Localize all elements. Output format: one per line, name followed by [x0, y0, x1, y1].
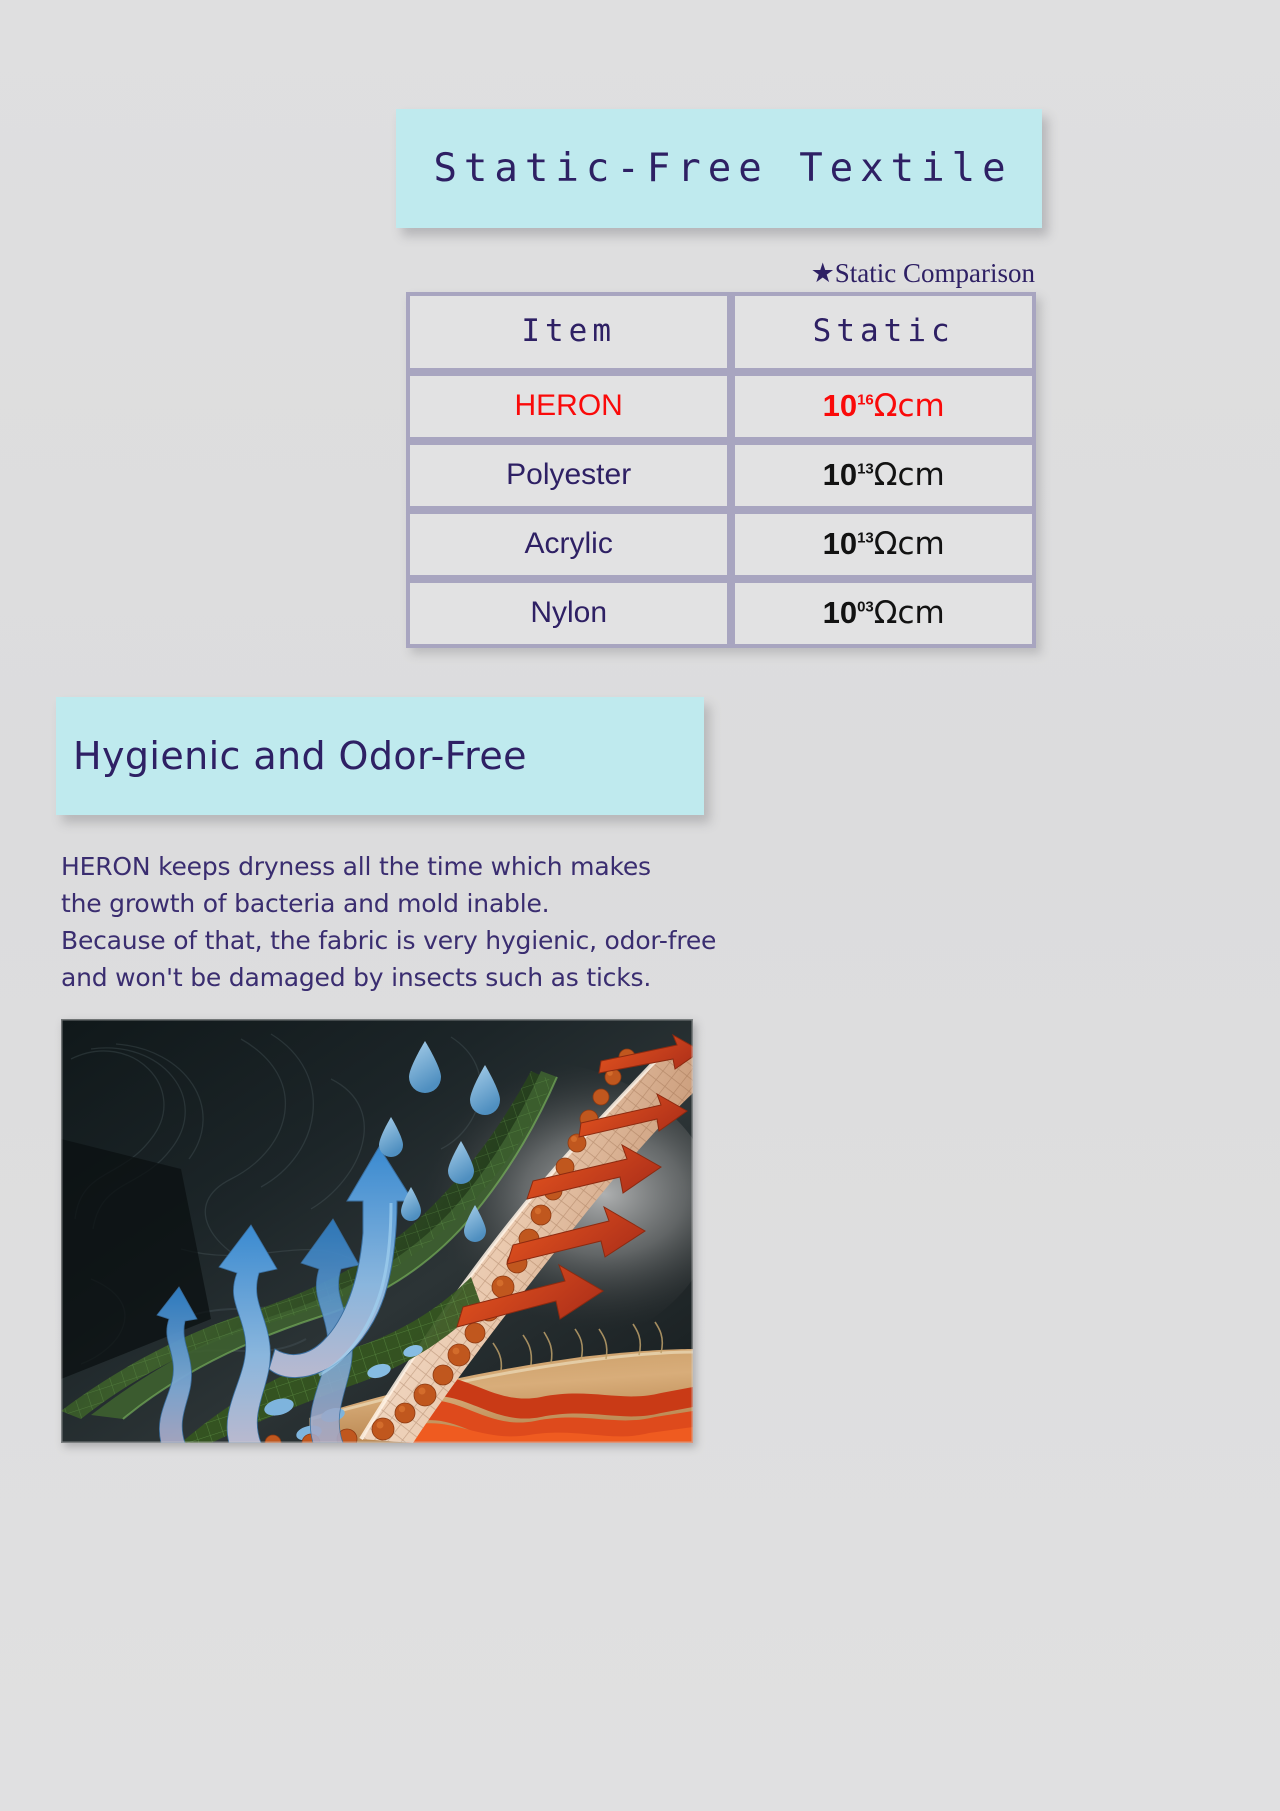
static-comparison-table: Item Static HERON 1016Ωcm Polyester 1013… — [406, 292, 1036, 648]
table-row: HERON 1016Ωcm — [406, 372, 1036, 441]
value-base: 10 — [823, 595, 857, 630]
value-unit: Ωcm — [874, 457, 945, 493]
value-exponent: 16 — [857, 391, 874, 408]
section-title: Hygienic and Odor-Free — [56, 734, 527, 778]
value-group: 1016Ωcm — [823, 388, 945, 424]
value-base: 10 — [823, 457, 857, 492]
body-line-2: the growth of bacteria and mold inable. — [61, 885, 716, 922]
fabric-moisture-transport-illustration — [61, 1019, 693, 1443]
cell-static-value: 1003Ωcm — [731, 579, 1036, 648]
page-title: Static-Free Textile — [425, 146, 1012, 191]
cell-static-value: 1016Ωcm — [731, 372, 1036, 441]
value-group: 1003Ωcm — [823, 595, 945, 631]
body-line-1: HERON keeps dryness all the time which m… — [61, 848, 716, 885]
body-line-3: Because of that, the fabric is very hygi… — [61, 922, 716, 959]
value-exponent: 13 — [857, 460, 874, 477]
table-row: Polyester 1013Ωcm — [406, 441, 1036, 510]
value-group: 1013Ωcm — [823, 526, 945, 562]
cell-item-name: HERON — [406, 372, 731, 441]
cell-static-value: 1013Ωcm — [731, 510, 1036, 579]
column-header-static: Static — [731, 292, 1036, 372]
value-unit: Ωcm — [874, 595, 945, 631]
value-exponent: 03 — [857, 598, 874, 615]
value-unit: Ωcm — [874, 388, 945, 424]
cell-item-name: Polyester — [406, 441, 731, 510]
column-header-item: Item — [406, 292, 731, 372]
value-base: 10 — [823, 526, 857, 561]
value-base: 10 — [823, 388, 857, 423]
cell-item-name: Acrylic — [406, 510, 731, 579]
value-group: 1013Ωcm — [823, 457, 945, 493]
banner-hygienic-odor-free: Hygienic and Odor-Free — [56, 697, 704, 815]
cell-static-value: 1013Ωcm — [731, 441, 1036, 510]
illustration-svg — [61, 1019, 693, 1443]
table-row: Acrylic 1013Ωcm — [406, 510, 1036, 579]
value-exponent: 13 — [857, 529, 874, 546]
body-line-4: and won't be damaged by insects such as … — [61, 959, 716, 996]
banner-static-free-textile: Static-Free Textile — [396, 109, 1042, 228]
body-paragraph: HERON keeps dryness all the time which m… — [61, 848, 716, 996]
table-row: Nylon 1003Ωcm — [406, 579, 1036, 648]
cell-item-name: Nylon — [406, 579, 731, 648]
static-comparison-caption: ★Static Comparison — [811, 258, 1035, 289]
poster-page: Static-Free Textile ★Static Comparison I… — [0, 0, 1280, 1811]
value-unit: Ωcm — [874, 526, 945, 562]
table-header-row: Item Static — [406, 292, 1036, 372]
